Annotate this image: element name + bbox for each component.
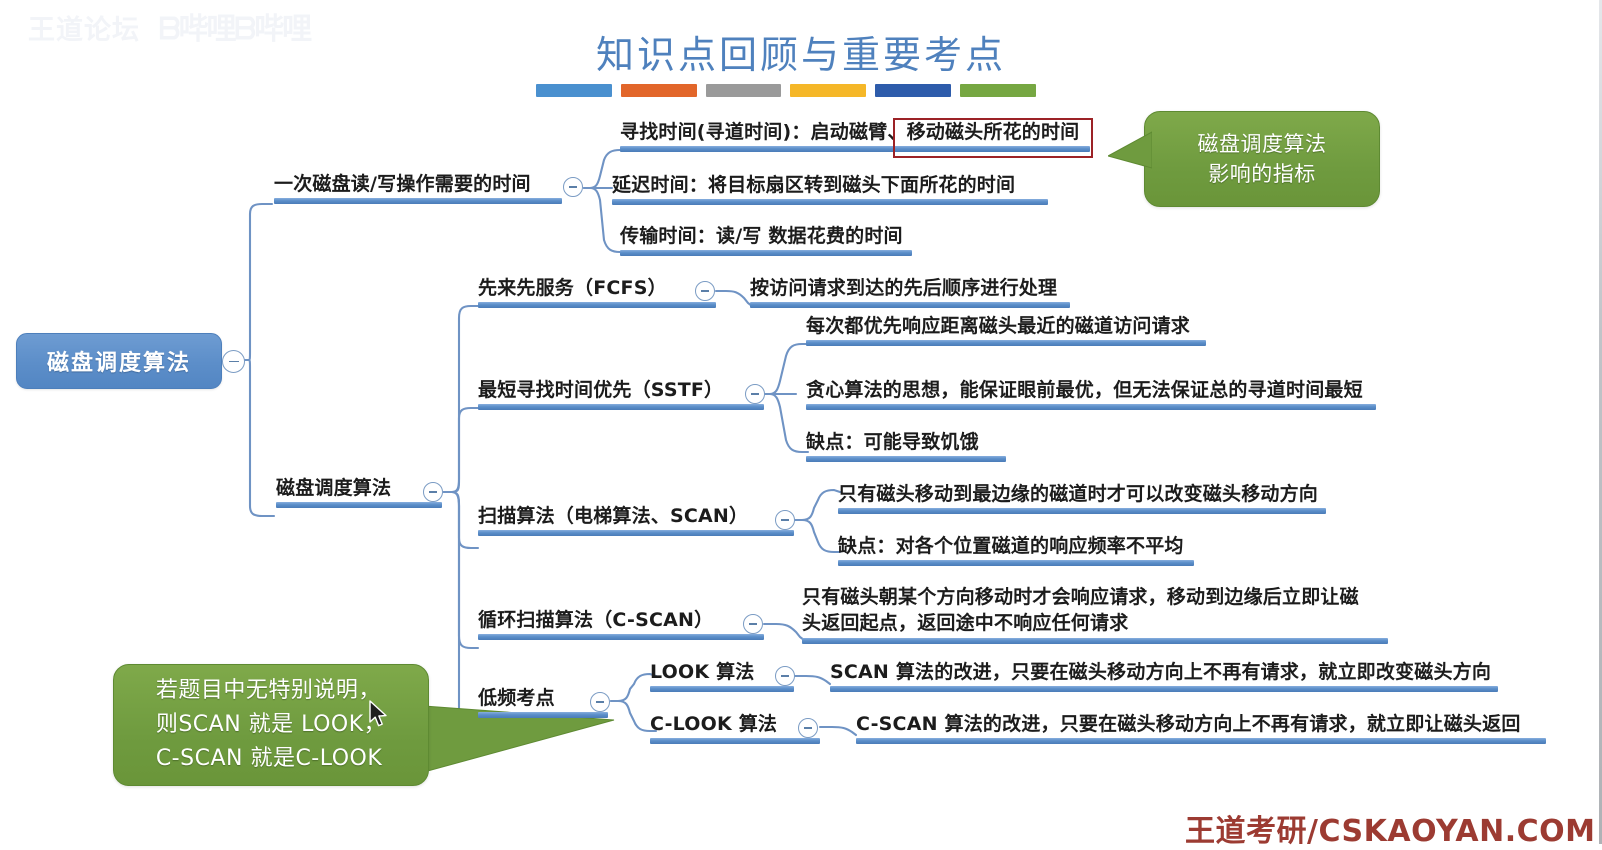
topic-label: 磁盘调度算法 (276, 476, 391, 501)
topic-underline (620, 250, 912, 256)
toggle-disk-io-time[interactable] (563, 177, 583, 197)
topic-underline (478, 634, 764, 640)
topic-label: 每次都优先响应距离磁头最近的磁道访问请求 (806, 314, 1190, 339)
callout-text: 若题目中无特别说明， 则SCAN 就是 LOOK， C-SCAN 就是C-LOO… (156, 674, 386, 776)
topic-label: 低频考点 (478, 686, 555, 711)
topic-underline (276, 502, 442, 508)
topic-rotational-delay[interactable]: 延迟时间：将目标扇区转到磁头下面所花的时间 (612, 173, 1048, 205)
topic-label: 按访问请求到达的先后顺序进行处理 (750, 276, 1057, 301)
topic-underline (650, 738, 820, 744)
topic-sstf-nearest[interactable]: 每次都优先响应距离磁头最近的磁道访问请求 (806, 314, 1206, 346)
topic-label: 循环扫描算法（C-SCAN） (478, 608, 713, 633)
topic-label: 传输时间：读/写 数据花费的时间 (620, 224, 903, 249)
topic-underline (806, 404, 1376, 410)
callout-top-tail (1108, 128, 1152, 182)
topic-label: 延迟时间：将目标扇区转到磁头下面所花的时间 (612, 173, 1015, 198)
topic-label: 只有磁头朝某个方向移动时才会响应请求，移动到边缘后立即让磁 头返回起点，返回途中… (802, 584, 1359, 636)
topic-label: C-SCAN 算法的改进，只要在磁头移动方向上不再有请求，就立即让磁头返回 (856, 712, 1521, 737)
topic-disk-io-time[interactable]: 一次磁盘读/写操作需要的时间 (274, 172, 562, 204)
mindmap-canvas: 王道论坛 ᗷ哔哩ᗷ哔哩 知识点回顾与重要考点 (0, 0, 1602, 844)
topic-underline (612, 199, 1048, 205)
root-node[interactable]: 磁盘调度算法 (16, 333, 222, 389)
topic-cscan[interactable]: 循环扫描算法（C-SCAN） (478, 608, 764, 640)
callout-metrics: 磁盘调度算法 影响的指标 (1144, 111, 1380, 207)
topic-label: 最短寻找时间优先（SSTF） (478, 378, 723, 403)
topic-label: SCAN 算法的改进，只要在磁头移动方向上不再有请求，就立即改变磁头方向 (830, 660, 1491, 685)
topic-fcfs[interactable]: 先来先服务（FCFS） (478, 276, 716, 308)
toggle-disk-scheduling-algorithms[interactable] (423, 482, 443, 502)
toggle-cscan[interactable] (743, 614, 763, 634)
topic-sstf-starvation[interactable]: 缺点：可能导致饥饿 (806, 430, 1006, 462)
toggle-look[interactable] (775, 666, 795, 686)
topic-label: C-LOOK 算法 (650, 712, 777, 737)
toggle-sstf[interactable] (745, 384, 765, 404)
topic-label: 扫描算法（电梯算法、SCAN） (478, 504, 748, 529)
topic-sstf[interactable]: 最短寻找时间优先（SSTF） (478, 378, 764, 410)
topic-clook[interactable]: C-LOOK 算法 (650, 712, 820, 744)
topic-underline (478, 302, 716, 308)
toggle-fcfs[interactable] (695, 281, 715, 301)
topic-scan-drawback[interactable]: 缺点：对各个位置磁道的响应频率不平均 (838, 534, 1194, 566)
topic-underline (856, 738, 1546, 744)
topic-underline (802, 638, 1388, 644)
topic-label: 只有磁头移动到最边缘的磁道时才可以改变磁头移动方向 (838, 482, 1318, 507)
topic-transfer-time[interactable]: 传输时间：读/写 数据花费的时间 (620, 224, 912, 256)
topic-low-frequency[interactable]: 低频考点 (478, 686, 608, 718)
topic-cscan-desc[interactable]: 只有磁头朝某个方向移动时才会响应请求，移动到边缘后立即让磁 头返回起点，返回途中… (802, 586, 1388, 644)
toggle-root[interactable] (222, 350, 245, 373)
topic-underline (650, 686, 794, 692)
topic-scan-direction[interactable]: 只有磁头移动到最边缘的磁道时才可以改变磁头移动方向 (838, 482, 1326, 514)
topic-look-desc[interactable]: SCAN 算法的改进，只要在磁头移动方向上不再有请求，就立即改变磁头方向 (830, 660, 1498, 692)
topic-underline (274, 198, 562, 204)
topic-underline (750, 302, 1070, 308)
topic-look[interactable]: LOOK 算法 (650, 660, 794, 692)
callout-text: 磁盘调度算法 影响的指标 (1198, 129, 1327, 189)
topic-label: 贪心算法的思想，能保证眼前最优，但无法保证总的寻道时间最短 (806, 378, 1363, 403)
topic-sstf-greedy[interactable]: 贪心算法的思想，能保证眼前最优，但无法保证总的寻道时间最短 (806, 378, 1376, 410)
topic-underline (838, 560, 1194, 566)
topic-fcfs-desc[interactable]: 按访问请求到达的先后顺序进行处理 (750, 276, 1070, 308)
topic-clook-desc[interactable]: C-SCAN 算法的改进，只要在磁头移动方向上不再有请求，就立即让磁头返回 (856, 712, 1546, 744)
topic-underline (806, 340, 1206, 346)
footer-brand: 王道考研/CSKAOYAN.COM (1185, 806, 1595, 850)
topic-label: LOOK 算法 (650, 660, 754, 685)
topic-underline (478, 404, 764, 410)
topic-disk-scheduling-algorithms[interactable]: 磁盘调度算法 (276, 476, 442, 508)
topic-underline (838, 508, 1326, 514)
root-node-label: 磁盘调度算法 (47, 345, 191, 377)
topic-label: 一次磁盘读/写操作需要的时间 (274, 172, 531, 197)
topic-underline (478, 712, 608, 718)
mouse-cursor (368, 700, 390, 730)
toggle-scan[interactable] (775, 510, 795, 530)
topic-label: 缺点：可能导致饥饿 (806, 430, 979, 455)
highlight-box-move-head-time (893, 118, 1093, 158)
toggle-low-frequency[interactable] (590, 692, 610, 712)
topic-underline (830, 686, 1498, 692)
toggle-clook[interactable] (798, 718, 818, 738)
topic-label: 先来先服务（FCFS） (478, 276, 667, 301)
topic-label: 缺点：对各个位置磁道的响应频率不平均 (838, 534, 1184, 559)
topic-underline (478, 530, 794, 536)
topic-underline (806, 456, 1006, 462)
topic-scan[interactable]: 扫描算法（电梯算法、SCAN） (478, 504, 794, 536)
